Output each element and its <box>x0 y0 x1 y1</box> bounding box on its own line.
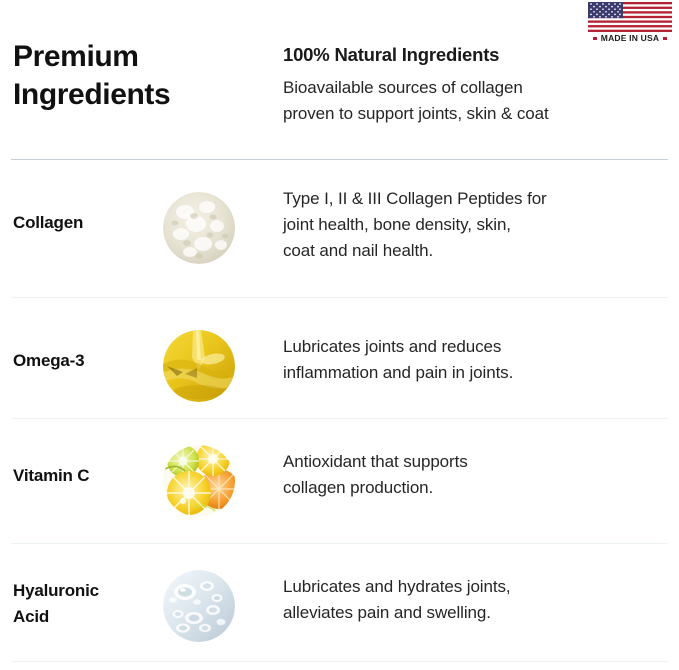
ingredient-description-line-3: coat and nail health. <box>283 238 675 264</box>
ingredient-description-line-1: Lubricates joints and reduces <box>283 334 675 360</box>
ingredient-description: Type I, II & III Collagen Peptides for j… <box>283 186 675 263</box>
ingredient-label: Omega-3 <box>13 348 158 374</box>
ingredient-row-vitamin-c: Vitamin C <box>0 445 679 517</box>
header-lede: 100% Natural Ingredients <box>283 43 673 67</box>
page-title-line-2: Ingredients <box>13 76 263 114</box>
header-subtext-line-1: Bioavailable sources of collagen <box>283 75 673 101</box>
ingredient-row-collagen: Collagen <box>0 192 679 264</box>
ingredient-row-hyaluronic-acid: Hyaluronic Acid <box>0 570 679 642</box>
ingredient-description-line-2: alleviates pain and swelling. <box>283 600 675 626</box>
row-divider-4 <box>11 661 668 662</box>
ingredient-label: Vitamin C <box>13 463 158 489</box>
vitamin-c-citrus-thumb <box>163 445 235 517</box>
row-divider-3 <box>11 543 668 544</box>
header-subtext: Bioavailable sources of collagen proven … <box>283 75 673 127</box>
hyaluronic-water-drops-image <box>163 570 235 642</box>
omega3-oil-thumb <box>163 330 235 402</box>
row-divider-2 <box>11 418 668 419</box>
vitamin-c-citrus-image <box>163 445 235 517</box>
ingredient-label: Collagen <box>13 210 158 236</box>
premium-ingredients-panel: MADE IN USA Premium Ingredients 100% Nat… <box>0 0 679 670</box>
panel-header: Premium Ingredients 100% Natural Ingredi… <box>0 0 679 159</box>
ingredient-description-line-1: Antioxidant that supports <box>283 449 675 475</box>
page-title-line-1: Premium <box>13 38 263 76</box>
collagen-powder-image <box>163 192 235 264</box>
header-copy: 100% Natural Ingredients Bioavailable so… <box>283 43 673 127</box>
row-divider-1 <box>11 297 668 298</box>
ingredient-description-line-2: joint health, bone density, skin, <box>283 212 675 238</box>
collagen-powder-thumb <box>163 192 235 264</box>
ingredient-label: Hyaluronic Acid <box>13 578 158 631</box>
ingredient-description: Lubricates and hydrates joints, alleviat… <box>283 574 675 626</box>
page-title: Premium Ingredients <box>13 38 263 114</box>
ingredient-label-line-2: Acid <box>13 604 158 630</box>
omega3-oil-image <box>163 330 235 402</box>
header-subtext-line-2: proven to support joints, skin & coat <box>283 101 673 127</box>
hyaluronic-water-drops-thumb <box>163 570 235 642</box>
ingredient-row-omega-3: Omega-3 <box>0 330 679 402</box>
ingredient-description: Antioxidant that supports collagen produ… <box>283 449 675 501</box>
header-divider <box>11 159 668 160</box>
ingredient-description-line-1: Lubricates and hydrates joints, <box>283 574 675 600</box>
ingredient-description: Lubricates joints and reduces inflammati… <box>283 334 675 386</box>
ingredient-label-line-1: Hyaluronic <box>13 578 158 604</box>
ingredient-description-line-1: Type I, II & III Collagen Peptides for <box>283 186 675 212</box>
ingredient-description-line-2: inflammation and pain in joints. <box>283 360 675 386</box>
ingredient-description-line-2: collagen production. <box>283 475 675 501</box>
